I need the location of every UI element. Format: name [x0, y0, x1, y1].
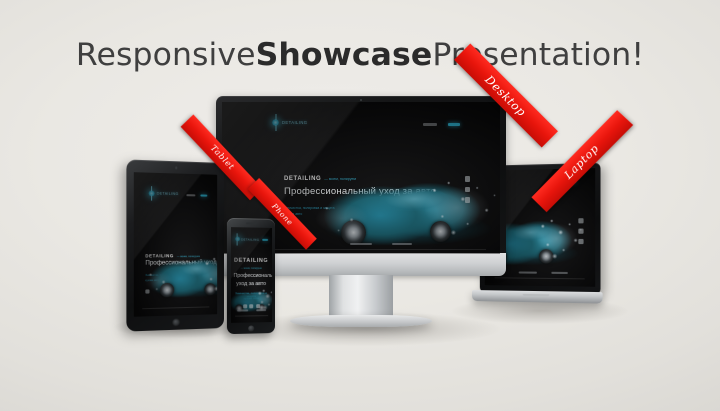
page-title-part2: Showcase [256, 37, 433, 73]
phone-home-button[interactable] [248, 325, 254, 332]
tablet-site: DETAILING DETAILING — моем, полируем Про… [134, 172, 217, 317]
tablet-frame: DETAILING DETAILING — моем, полируем Про… [126, 159, 224, 331]
tablet-camera-icon [175, 166, 178, 169]
phone-screen: DETAILING DETAILING — моем, полируем Про… [230, 227, 271, 323]
imac-camera-icon [360, 99, 362, 101]
phone-speaker-icon [246, 223, 257, 225]
imac-stand-foot [290, 315, 432, 327]
tablet-screen-vignette [134, 172, 217, 317]
tablet-home-button[interactable] [172, 318, 180, 326]
phone-site: DETAILING DETAILING — моем, полируем Про… [230, 227, 271, 323]
page-title: Responsive Showcase Presentation! [0, 37, 720, 73]
tablet-screen: DETAILING DETAILING — моем, полируем Про… [134, 172, 217, 317]
device-tablet: DETAILING DETAILING — моем, полируем Про… [126, 159, 224, 331]
imac-stand-neck [329, 275, 393, 319]
phone-screen-vignette [230, 227, 271, 323]
phone-frame: DETAILING DETAILING — моем, полируем Про… [227, 218, 275, 334]
page-title-part1: Responsive [76, 37, 256, 73]
presentation-canvas: Responsive Showcase Presentation! [0, 0, 720, 411]
device-phone: DETAILING DETAILING — моем, полируем Про… [227, 218, 275, 334]
laptop-notch [523, 293, 550, 296]
